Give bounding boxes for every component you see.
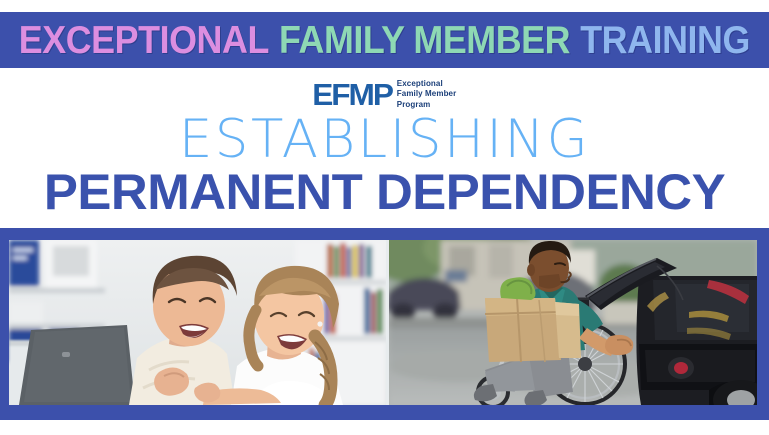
divider-bar-bottom [0,405,769,420]
divider-bar-left [0,228,9,420]
photo-strip [9,240,757,405]
poster: EXCEPTIONALFAMILY MEMBERTRAINING EFMP Ex… [0,0,769,435]
title-banner: EXCEPTIONALFAMILY MEMBERTRAINING [0,12,769,68]
banner-word-exceptional: EXCEPTIONAL [19,19,269,62]
headline: ESTABLISHING PERMANENT DEPENDENCY [0,112,769,218]
banner-word-family-member: FAMILY MEMBER [279,19,570,62]
efmp-logo-line-1: Exceptional [397,79,457,89]
photo-man-in-wheelchair-with-groceries [389,240,757,405]
photo-left-illustration [9,240,386,405]
efmp-logo-mark: EFMP [312,79,392,110]
banner-title: EXCEPTIONALFAMILY MEMBERTRAINING [19,21,750,60]
efmp-logo-wordmark: Exceptional Family Member Program [397,79,457,110]
efmp-logo: EFMP Exceptional Family Member Program [0,74,769,114]
photo-right-illustration [389,240,757,405]
banner-word-training: TRAINING [580,19,750,62]
photo-woman-and-girl-at-laptop [9,240,386,405]
efmp-logo-line-2: Family Member [397,89,457,99]
headline-line-permanent-dependency: PERMANENT DEPENDENCY [0,166,769,218]
divider-bar-right [757,228,769,420]
headline-line-establishing: ESTABLISHING [0,112,769,168]
divider-bar-top [0,228,769,240]
